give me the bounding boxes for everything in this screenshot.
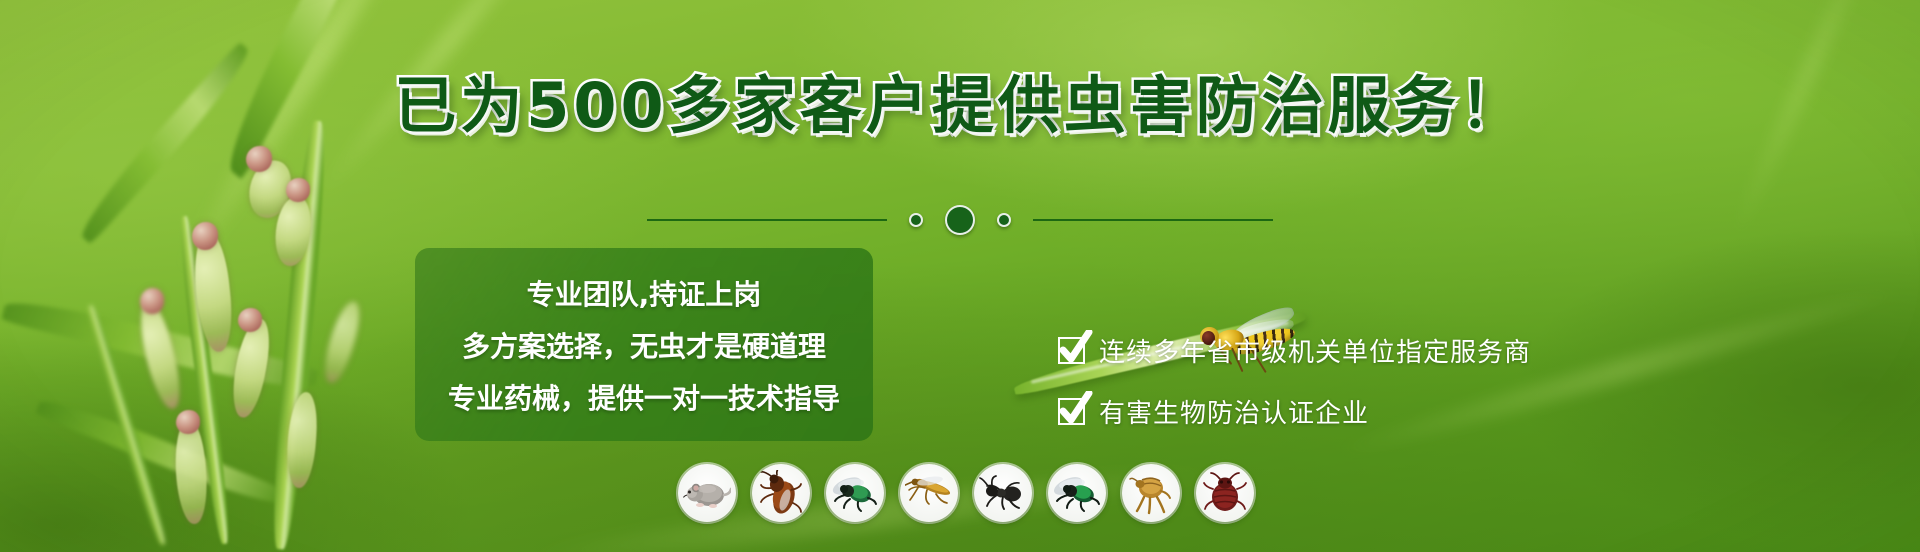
bullet-item: 有害生物防治认证企业: [1058, 393, 1531, 430]
flea-icon[interactable]: [1122, 464, 1180, 522]
plant-bud: [319, 298, 365, 385]
bullet-item: 连续多年省市级机关单位指定服务商: [1058, 332, 1531, 369]
decoration-dot-large: [945, 205, 975, 235]
checkbox-checked-icon: [1058, 398, 1085, 425]
cockroach-icon[interactable]: [752, 464, 810, 522]
ant-icon[interactable]: [974, 464, 1032, 522]
rodent-icon[interactable]: [678, 464, 736, 522]
plant-bud-tip: [140, 288, 164, 314]
checkbox-checked-icon: [1058, 337, 1085, 364]
promo-banner: 已为500多家客户提供虫害防治服务！ 专业团队,持证上岗 多方案选择，无虫才是硬…: [0, 0, 1920, 552]
certification-bullets: 连续多年省市级机关单位指定服务商 有害生物防治认证企业: [1058, 332, 1531, 430]
plant-bud-tip: [238, 308, 262, 332]
claims-panel: 专业团队,持证上岗 多方案选择，无虫才是硬道理 专业药械，提供一对一技术指导: [415, 248, 873, 441]
decoration-rule-left: [647, 219, 887, 221]
housefly-icon[interactable]: [826, 464, 884, 522]
claims-panel-line-2: 多方案选择，无虫才是硬道理: [415, 325, 873, 365]
banner-headline: 已为500多家客户提供虫害防治服务！: [0, 75, 1920, 137]
decoration-dot-small: [909, 213, 923, 227]
bullet-label: 有害生物防治认证企业: [1099, 393, 1369, 430]
bullet-label: 连续多年省市级机关单位指定服务商: [1099, 332, 1531, 369]
mosquito-icon[interactable]: [900, 464, 958, 522]
blowfly-icon[interactable]: [1048, 464, 1106, 522]
claims-panel-line-3: 专业药械，提供一对一技术指导: [415, 377, 873, 417]
plant-bud-tip: [176, 410, 200, 434]
claims-panel-line-1: 专业团队,持证上岗: [415, 273, 873, 313]
headline-decoration: [0, 205, 1920, 235]
bedbug-icon[interactable]: [1196, 464, 1254, 522]
banner-headline-text: 已为500多家客户提供虫害防治服务！: [394, 69, 1525, 142]
decoration-dot-small: [997, 213, 1011, 227]
pest-icon-row: [678, 464, 1254, 522]
plant-bud-tip: [286, 178, 310, 202]
plant-bud-tip: [246, 146, 272, 172]
decoration-rule-right: [1033, 219, 1273, 221]
